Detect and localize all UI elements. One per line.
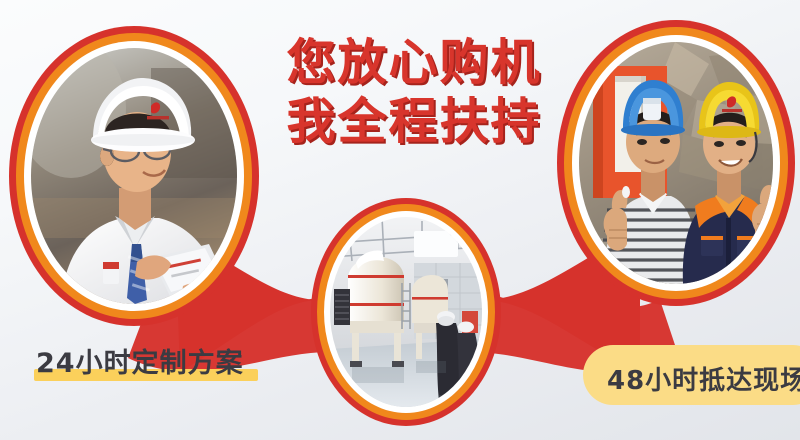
label-24h-custom-plan: 24小时定制方案 [36, 341, 244, 380]
photo-circle-factory [311, 198, 501, 426]
factory-photo [330, 217, 482, 407]
headline-line-2: 我全程扶持 [283, 92, 545, 151]
engineer-photo [31, 48, 237, 304]
label-left-text: 24小时定制方案 [36, 341, 244, 380]
promo-banner: 您放心购机 我全程扶持 24小时定制方案 48小时抵达现场 [0, 0, 800, 440]
workers-photo [579, 42, 773, 284]
photo-circle-workers [557, 20, 795, 306]
photo-circle-engineer [9, 26, 259, 326]
headline-line-1: 您放心购机 [283, 33, 545, 92]
label-right-text: 48小时抵达现场 [607, 360, 800, 397]
label-48h-onsite-pill: 48小时抵达现场 [583, 345, 800, 405]
headline: 您放心购机 我全程扶持 [283, 33, 545, 151]
